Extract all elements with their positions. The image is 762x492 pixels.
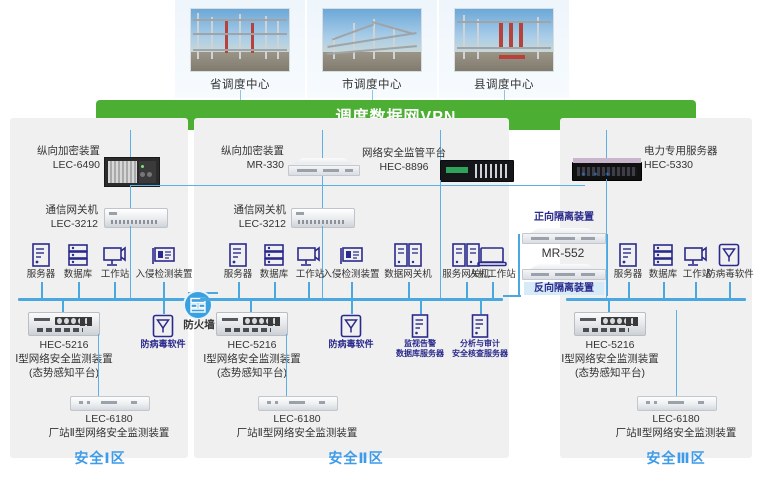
ids-icon [152,246,176,266]
device-label-lec3212-z1: 通信网关机 LEC-3212 [20,203,98,231]
server-icon [31,243,51,267]
device-label-lec6490: 纵向加密装置 LEC-6490 [22,144,100,172]
connector-line [163,300,165,314]
isolation-device-reverse [522,264,604,280]
monitor-label-z1: HEC-5216 Ⅰ型网络安全监测装置 (态势感知平台) [8,338,120,380]
diagram-canvas: 省调度中心 市调度中心 县调度 [0,0,762,492]
connector-line [130,130,131,158]
server-icon [471,314,489,338]
server-label-audit: 分析与审计 安全核查服务器 [450,339,510,359]
connector-line [130,226,131,300]
antivirus-label-z2: 防病毒软件 [321,339,381,350]
zone-label-2: 安全Ⅱ区 [316,448,396,468]
monitor-label-z2: HEC-5216 Ⅰ型网络安全监测装置 (态势感知平台) [196,338,308,380]
supervision-rack-icon [440,160,514,182]
connector-line [518,234,520,296]
connector-line [480,300,482,314]
connector-line [250,300,252,312]
connector-line [322,226,323,300]
database-icon [652,243,674,267]
station-monitor-device-z2 [258,396,338,411]
node-label-ids-z2: 入侵检测装置 [318,269,384,282]
laptop-icon [477,247,507,267]
antivirus-label-z1: 防病毒软件 [133,339,193,350]
connector-line [606,179,607,300]
station-monitor-device-z3 [637,396,717,411]
substation-photo [190,8,290,72]
dispatch-center-province: 省调度中心 [175,0,305,98]
monitor-2u-device-z1 [28,312,100,336]
connector-line [420,300,422,314]
connector-line [62,300,64,312]
zone-label-1: 安全Ⅰ区 [60,448,140,468]
power-server-icon [572,162,642,181]
workstation-icon [103,245,127,267]
data-gateway-icon [393,243,423,267]
connector-line [98,334,99,396]
node-label-data-gateway-z2: 数据网关机 [376,269,440,282]
device-label-hec5330: 电力专用服务器 HEC-5330 [644,144,754,172]
server-label-alarm-db: 监视告警 数据库服务器 [390,339,450,359]
ids-icon [340,246,364,266]
firewall-icon [185,292,211,318]
station-label-z1: LEC-6180 厂站Ⅱ型网络安全监测装置 [48,412,170,440]
connector-line [440,180,441,300]
monitor-2u-device-z3 [574,312,646,336]
node-label-antivirus-z3: 防病毒软件 [702,269,758,282]
connector-line [503,295,521,297]
reverse-isolation-label: 反向隔离装置 [524,282,604,295]
isolation-model-label: MR-552 [524,246,602,260]
dispatch-center-city: 市调度中心 [307,0,437,98]
database-icon [263,243,285,267]
node-label-hmi-z2: 人机工作站 [466,269,518,282]
server-icon [618,243,638,267]
encryption-chassis-icon [104,157,160,187]
antivirus-shield-icon-z3 [718,243,740,267]
forward-isolation-label: 正向隔离装置 [524,212,604,223]
gateway-switch-icon-z1 [104,208,168,228]
database-icon [67,243,89,267]
server-icon [228,243,248,267]
dispatch-center-county: 县调度中心 [439,0,569,98]
device-label-lec3212-z2: 通信网关机 LEC-3212 [208,203,286,231]
workstation-icon [684,245,708,267]
gateway-switch-icon-z2 [291,208,355,228]
connector-line [608,300,610,312]
connector-line [286,334,287,396]
station-label-z2: LEC-6180 厂站Ⅱ型网络安全监测装置 [236,412,358,440]
station-label-z3: LEC-6180 厂站Ⅱ型网络安全监测装置 [615,412,737,440]
node-label-ids-z1: 入侵检测装置 [131,269,197,282]
zone-label-3: 安全Ⅲ区 [626,448,726,468]
substation-photo [454,8,554,72]
monitor-2u-device-z2 [216,312,288,336]
monitor-label-z3: HEC-5216 Ⅰ型网络安全监测装置 (态势感知平台) [554,338,666,380]
workstation-icon [297,245,321,267]
connector-line [351,300,353,314]
device-label-mr330: 纵向加密装置 MR-330 [206,144,284,172]
encryption-flat-icon [288,158,358,176]
isolation-device-forward [522,228,604,244]
server-icon [411,314,429,338]
connector-line [606,130,607,158]
station-monitor-device-z1 [70,396,150,411]
connector-line [676,310,677,396]
substation-photo [322,8,422,72]
antivirus-shield-icon-z2 [340,314,362,338]
connector-line [322,130,323,158]
inter-zone-trunk [130,185,585,186]
zone-bus-3 [566,298,746,301]
